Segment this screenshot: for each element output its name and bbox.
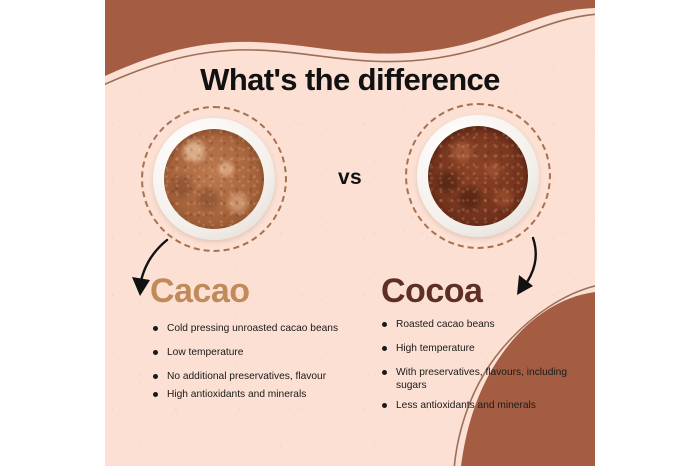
heading-cacao: Cacao <box>150 272 250 311</box>
list-item: Cold pressing unroasted cacao beans <box>152 322 352 335</box>
list-item: No additional preservatives, flavour <box>152 370 352 383</box>
cocoa-bowl-image <box>405 103 551 249</box>
cacao-bullet-list: Cold pressing unroasted cacao beans Low … <box>152 322 352 412</box>
list-item: Less antioxidants and minerals <box>381 399 581 412</box>
cacao-bowl-image <box>141 106 287 252</box>
bowl-left <box>153 118 275 240</box>
cocoa-bullet-list: Roasted cacao beans High temperature Wit… <box>381 318 581 423</box>
powder-grain-texture <box>164 129 264 229</box>
cocoa-powder <box>428 126 528 226</box>
vs-label: vs <box>309 166 391 190</box>
cacao-powder <box>164 129 264 229</box>
list-item: High antioxidants and minerals <box>152 388 352 401</box>
bowl-right <box>417 115 539 237</box>
list-item: High temperature <box>381 342 581 355</box>
infographic-panel: What's the difference vs <box>105 0 595 466</box>
heading-cocoa: Cocoa <box>381 272 482 311</box>
page-title: What's the difference <box>105 62 595 98</box>
list-item: Low temperature <box>152 346 352 359</box>
powder-grain-texture <box>428 126 528 226</box>
infographic-canvas: What's the difference vs <box>0 0 700 466</box>
list-item: Roasted cacao beans <box>381 318 581 331</box>
list-item: With preservatives, flavours, including … <box>381 366 581 392</box>
